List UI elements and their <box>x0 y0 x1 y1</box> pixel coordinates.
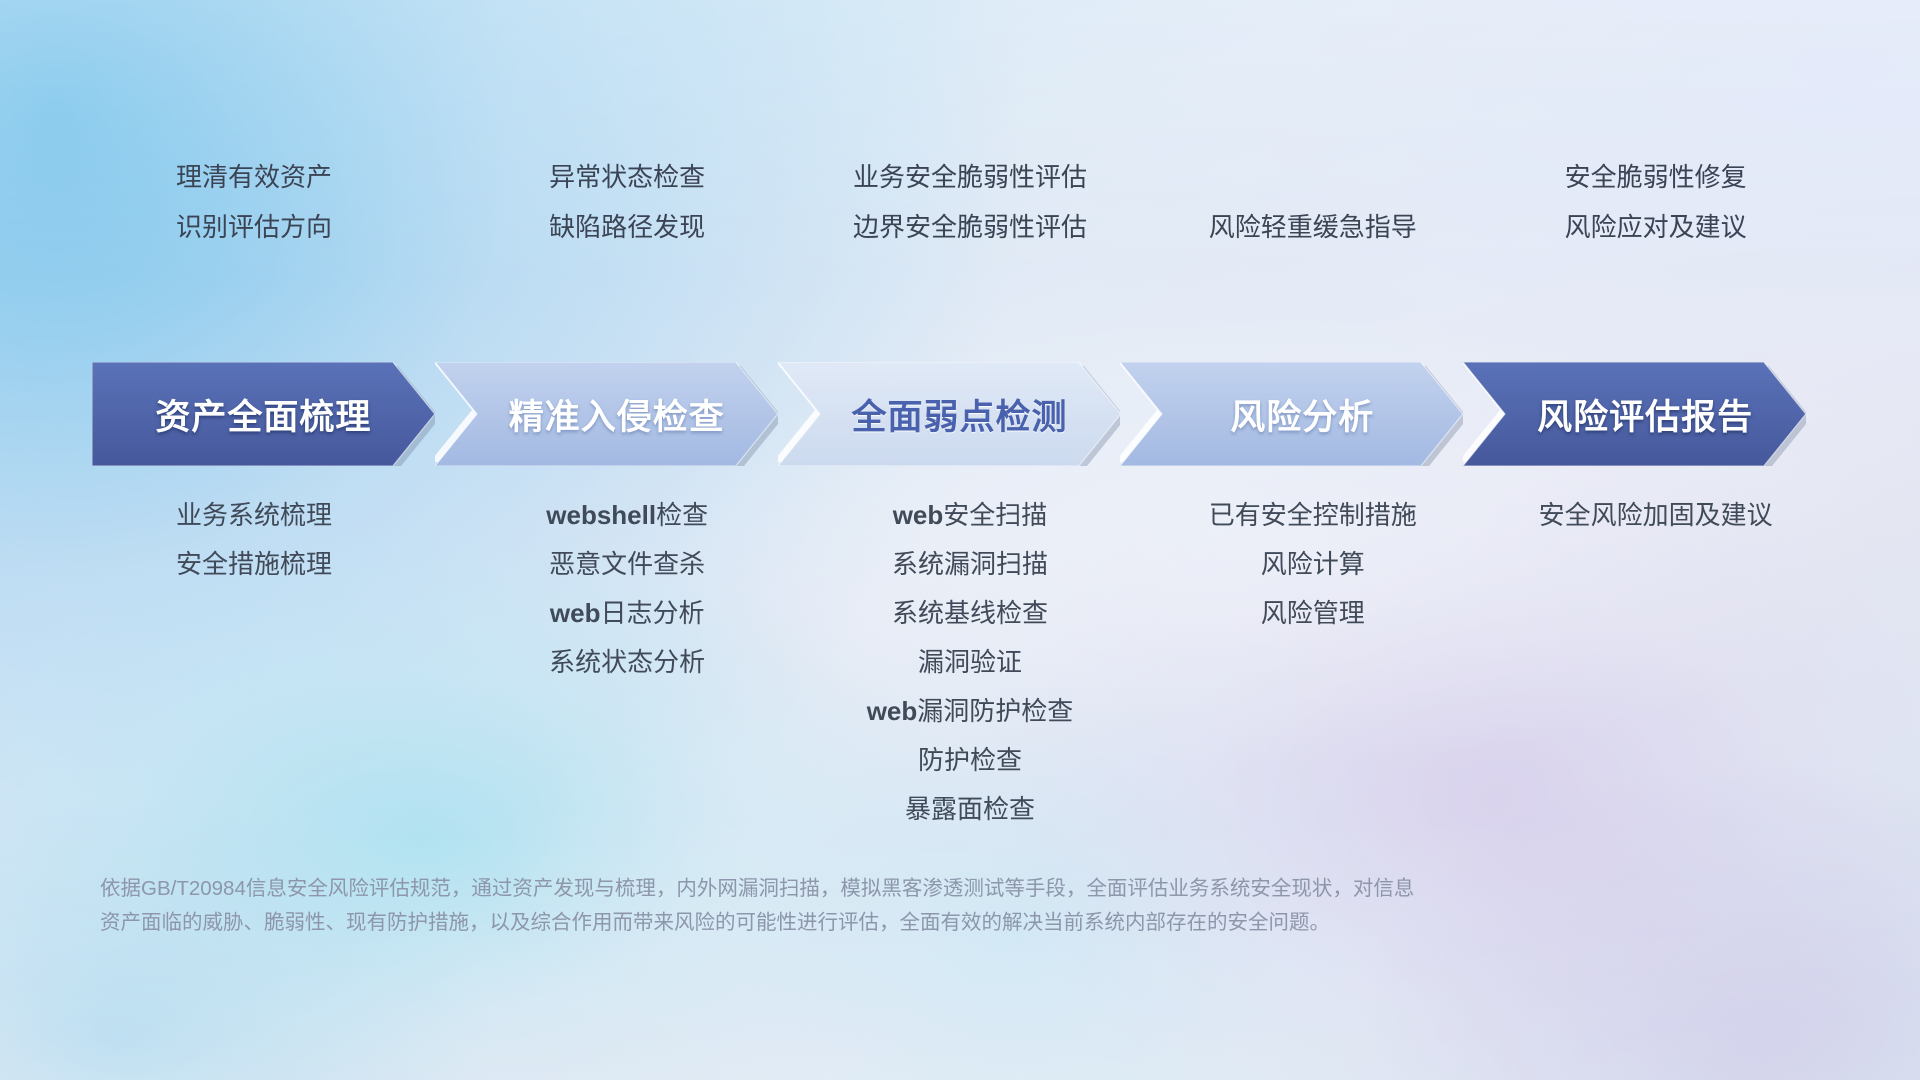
stage-output-item: 业务系统梳理 <box>92 491 416 540</box>
stage-title-intrusion-check: 精准入侵检查 <box>509 389 725 440</box>
stage-output-item: 防护检查 <box>801 736 1140 785</box>
stage-output-prefix: webshell <box>546 500 656 530</box>
stage-outputs-asset-inventory: 业务系统梳理安全措施梳理 <box>92 491 416 589</box>
stage-output-text: 风险计算 <box>1261 549 1365 579</box>
stage-output-text: 系统状态分析 <box>549 647 705 677</box>
stage-output-item: web漏洞防护检查 <box>801 687 1140 736</box>
stage-input-item: 识别评估方向 <box>92 202 416 252</box>
stage-output-text: 漏洞防护检查 <box>917 696 1073 726</box>
stage-output-text: 系统基线检查 <box>892 598 1048 628</box>
stage-output-item: 风险管理 <box>1144 589 1483 638</box>
stage-input-item: 异常状态检查 <box>458 152 797 202</box>
stage-input-item: 业务安全脆弱性评估 <box>801 152 1140 202</box>
stage-input-item: 安全脆弱性修复 <box>1486 152 1825 202</box>
stage-outputs-risk-report: 安全风险加固及建议 <box>1486 491 1825 540</box>
stage-output-item: webshell检查 <box>458 491 797 540</box>
process-stage-risk-report[interactable]: 风险评估报告 <box>1463 362 1806 466</box>
stage-inputs-risk-analysis: 风险轻重缓急指导 <box>1144 202 1483 252</box>
stage-outputs-intrusion-check: webshell检查恶意文件查杀web日志分析系统状态分析 <box>458 491 797 687</box>
stage-output-item: 安全风险加固及建议 <box>1486 491 1825 540</box>
stage-output-item: 风险计算 <box>1144 540 1483 589</box>
footer-description: 依据GB/T20984信息安全风险评估规范，通过资产发现与梳理，内外网漏洞扫描，… <box>100 872 1660 940</box>
stage-inputs-risk-report: 安全脆弱性修复风险应对及建议 <box>1486 152 1825 252</box>
stage-output-text: 安全措施梳理 <box>176 549 332 579</box>
stage-output-text: 检查 <box>656 500 708 530</box>
process-stage-risk-analysis[interactable]: 风险分析 <box>1120 362 1463 466</box>
stage-output-item: 系统基线检查 <box>801 589 1140 638</box>
stage-title-risk-report: 风险评估报告 <box>1537 389 1753 440</box>
stage-output-text: 恶意文件查杀 <box>549 549 705 579</box>
stage-output-text: 业务系统梳理 <box>176 500 332 530</box>
stage-title-weakness-detection: 全面弱点检测 <box>851 389 1067 440</box>
stage-output-text: 安全风险加固及建议 <box>1539 500 1773 530</box>
stage-output-text: 系统漏洞扫描 <box>892 549 1048 579</box>
footer-line: 资产面临的威胁、脆弱性、现有防护措施，以及综合作用而带来风险的可能性进行评估，全… <box>100 906 1660 940</box>
stage-output-item: 暴露面检查 <box>801 785 1140 834</box>
process-stage-intrusion-check[interactable]: 精准入侵检查 <box>435 362 778 466</box>
stage-outputs-weakness-detection: web安全扫描系统漏洞扫描系统基线检查漏洞验证web漏洞防护检查防护检查暴露面检… <box>801 491 1140 834</box>
process-stage-weakness-detection[interactable]: 全面弱点检测 <box>778 362 1121 466</box>
stage-title-risk-analysis: 风险分析 <box>1230 389 1374 440</box>
stage-output-text: 暴露面检查 <box>905 794 1035 824</box>
stage-input-item: 缺陷路径发现 <box>458 202 797 252</box>
slide-canvas: 理清有效资产识别评估方向业务系统梳理安全措施梳理异常状态检查缺陷路径发现webs… <box>0 0 1920 1080</box>
stage-output-item: 安全措施梳理 <box>92 540 416 589</box>
stage-input-item: 风险轻重缓急指导 <box>1144 202 1483 252</box>
stage-output-item: 漏洞验证 <box>801 638 1140 687</box>
stage-output-prefix: web <box>867 696 918 726</box>
process-stage-asset-inventory[interactable]: 资产全面梳理 <box>92 362 435 466</box>
stage-output-text: 安全扫描 <box>943 500 1047 530</box>
stage-output-item: web安全扫描 <box>801 491 1140 540</box>
footer-line: 依据GB/T20984信息安全风险评估规范，通过资产发现与梳理，内外网漏洞扫描，… <box>100 872 1660 906</box>
stage-title-asset-inventory: 资产全面梳理 <box>155 389 371 440</box>
stage-output-item: web日志分析 <box>458 589 797 638</box>
stage-input-item: 理清有效资产 <box>92 152 416 202</box>
stage-output-text: 风险管理 <box>1261 598 1365 628</box>
stage-output-prefix: web <box>550 598 601 628</box>
stage-output-text: 漏洞验证 <box>918 647 1022 677</box>
stage-output-text: 日志分析 <box>600 598 704 628</box>
stage-output-text: 防护检查 <box>918 745 1022 775</box>
stage-input-item: 边界安全脆弱性评估 <box>801 202 1140 252</box>
stage-output-item: 已有安全控制措施 <box>1144 491 1483 540</box>
stage-inputs-weakness-detection: 业务安全脆弱性评估边界安全脆弱性评估 <box>801 152 1140 252</box>
stage-inputs-intrusion-check: 异常状态检查缺陷路径发现 <box>458 152 797 252</box>
stage-outputs-risk-analysis: 已有安全控制措施风险计算风险管理 <box>1144 491 1483 638</box>
stage-inputs-asset-inventory: 理清有效资产识别评估方向 <box>92 152 416 252</box>
stage-output-item: 系统漏洞扫描 <box>801 540 1140 589</box>
stage-output-text: 已有安全控制措施 <box>1209 500 1417 530</box>
stage-output-prefix: web <box>893 500 944 530</box>
stage-output-item: 恶意文件查杀 <box>458 540 797 589</box>
process-chevron-band: 资产全面梳理精准入侵检查全面弱点检测风险分析风险评估报告 <box>0 362 1920 466</box>
stage-input-item: 风险应对及建议 <box>1486 202 1825 252</box>
stage-output-item: 系统状态分析 <box>458 638 797 687</box>
